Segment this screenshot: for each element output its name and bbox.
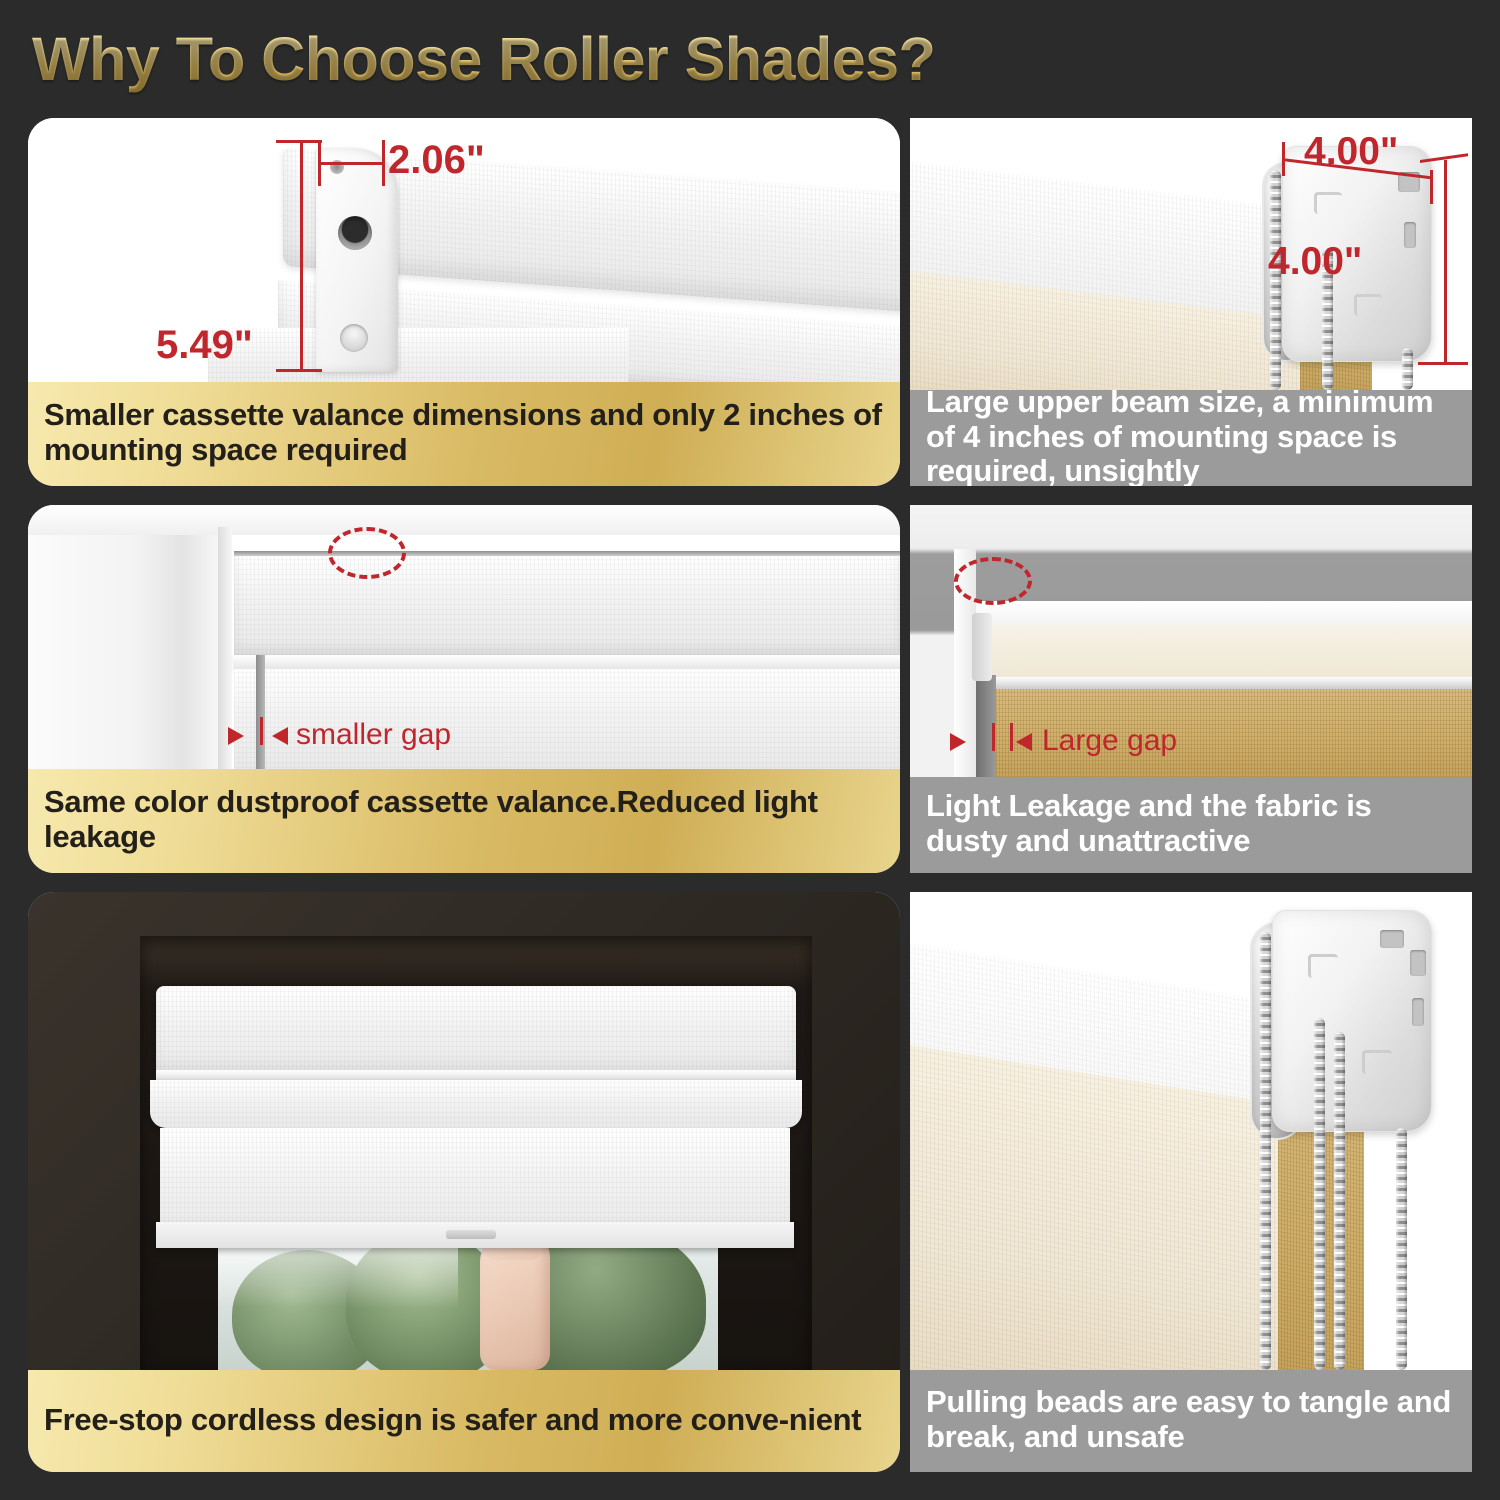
gap-dark-strip (256, 655, 265, 773)
width-dimension-label: 2.06" (388, 138, 485, 183)
end-cap-screw-lower (340, 324, 368, 352)
panel-cordless-design: Free-stop cordless design is safer and m… (28, 892, 900, 1472)
beam-height-line (1444, 160, 1447, 362)
panel-dustproof-valance: smaller gap Same color dustproof cassett… (28, 505, 900, 873)
window-frame-top (28, 505, 900, 535)
panel-caption-pulling-beads: Pulling beads are easy to tangle and bre… (910, 1370, 1472, 1472)
bead-chain-front (1260, 932, 1271, 1370)
bracket-emboss-lower (1354, 294, 1382, 316)
dustproof-valance-photo: smaller gap (28, 505, 900, 773)
end-cap-roller-socket (338, 216, 372, 250)
valance-fabric-drop (208, 328, 628, 386)
beam-corner-highlight-circle (954, 557, 1032, 605)
panel-caption-dustproof-valance: Same color dustproof cassette valance.Re… (28, 769, 900, 873)
bracket-slot-mid (1404, 222, 1416, 248)
gap-tick (260, 717, 263, 745)
valance-second-roll (150, 1080, 802, 1128)
caption-text: Pulling beads are easy to tangle and bre… (926, 1385, 1458, 1454)
bracket-pin (972, 613, 992, 681)
beam-width-label: 4.00" (1304, 130, 1398, 174)
height-dim-tick-bottom (276, 369, 322, 372)
caption-text: Light Leakage and the fabric is dusty an… (926, 789, 1458, 858)
panel-caption-cordless-design: Free-stop cordless design is safer and m… (28, 1370, 900, 1472)
window-frame-left (28, 505, 226, 773)
gap-arrow-right-icon (272, 727, 288, 745)
bead-chain-loop (1396, 1128, 1407, 1370)
gap-arrow-left-icon (228, 727, 244, 745)
panel-caption-cassette-dimensions: Smaller cassette valance dimensions and … (28, 382, 900, 486)
cassette-valance-face (234, 553, 900, 655)
cassette-valance-photo: 2.06" 5.49" (28, 118, 900, 386)
gap-arrow-right-icon (1016, 733, 1032, 751)
gap-tick-b (1010, 723, 1013, 751)
panel-caption-light-leakage: Light Leakage and the fabric is dusty an… (910, 777, 1472, 873)
height-dimension-label: 5.49" (156, 323, 253, 368)
beam-height-label: 4.00" (1268, 240, 1362, 284)
pulling-beads-photo (910, 892, 1472, 1370)
beam-height-tick-bottom (1418, 362, 1468, 365)
caption-text: Smaller cassette valance dimensions and … (44, 398, 886, 467)
page-title-text: Why To Choose Roller Shades? (32, 24, 935, 94)
large-gap-label: Large gap (1042, 724, 1177, 758)
caption-text: Free-stop cordless design is safer and m… (44, 1403, 861, 1438)
page-title: Why To Choose Roller Shades? (32, 20, 1032, 98)
bead-chain-middle (1314, 1018, 1325, 1370)
valance-edge-highlight-circle (328, 527, 406, 579)
bracket-emboss-upper (1314, 192, 1342, 214)
valance-bottom-lip (234, 655, 900, 669)
panel-pulling-beads: Pulling beads are easy to tangle and bre… (910, 892, 1472, 1472)
light-leakage-photo: Large gap (910, 505, 1472, 777)
gap-arrow-left-icon (950, 733, 966, 751)
beam-width-tick-right (1430, 170, 1433, 204)
bracket-slot-top (1380, 930, 1404, 948)
panel-cassette-dimensions: 2.06" 5.49" Smaller cassette valance dim… (28, 118, 900, 486)
bead-chain-back (1334, 1032, 1345, 1370)
height-dim-line (300, 140, 303, 372)
smaller-gap-label: smaller gap (296, 718, 451, 752)
caption-text: Large upper beam size, a minimum of 4 in… (926, 385, 1458, 486)
bracket-emboss-lower (1362, 1050, 1392, 1074)
panel-light-leakage: Large gap Light Leakage and the fabric i… (910, 505, 1472, 873)
height-dim-tick-top (276, 140, 322, 143)
roller-bracket (1272, 910, 1432, 1132)
panel-upper-beam-size: 4.00" 4.00" Large upper beam size, a min… (910, 118, 1472, 486)
valance-cassette (156, 986, 796, 1072)
cream-beam-face (976, 625, 1472, 679)
bracket-slot-upper-right (1410, 950, 1426, 976)
upper-beam-photo: 4.00" 4.00" (910, 118, 1472, 390)
cordless-window-photo (28, 892, 900, 1370)
bracket-slot-mid (1412, 998, 1424, 1026)
bracket-emboss-upper (1308, 954, 1338, 978)
gap-tick-a (992, 723, 995, 751)
caption-text: Same color dustproof cassette valance.Re… (44, 785, 886, 854)
bottom-rail-grip (446, 1230, 496, 1239)
panel-caption-upper-beam-size: Large upper beam size, a minimum of 4 in… (910, 390, 1472, 486)
beam-bottom-edge (972, 677, 1472, 689)
width-dim-line (318, 162, 384, 165)
